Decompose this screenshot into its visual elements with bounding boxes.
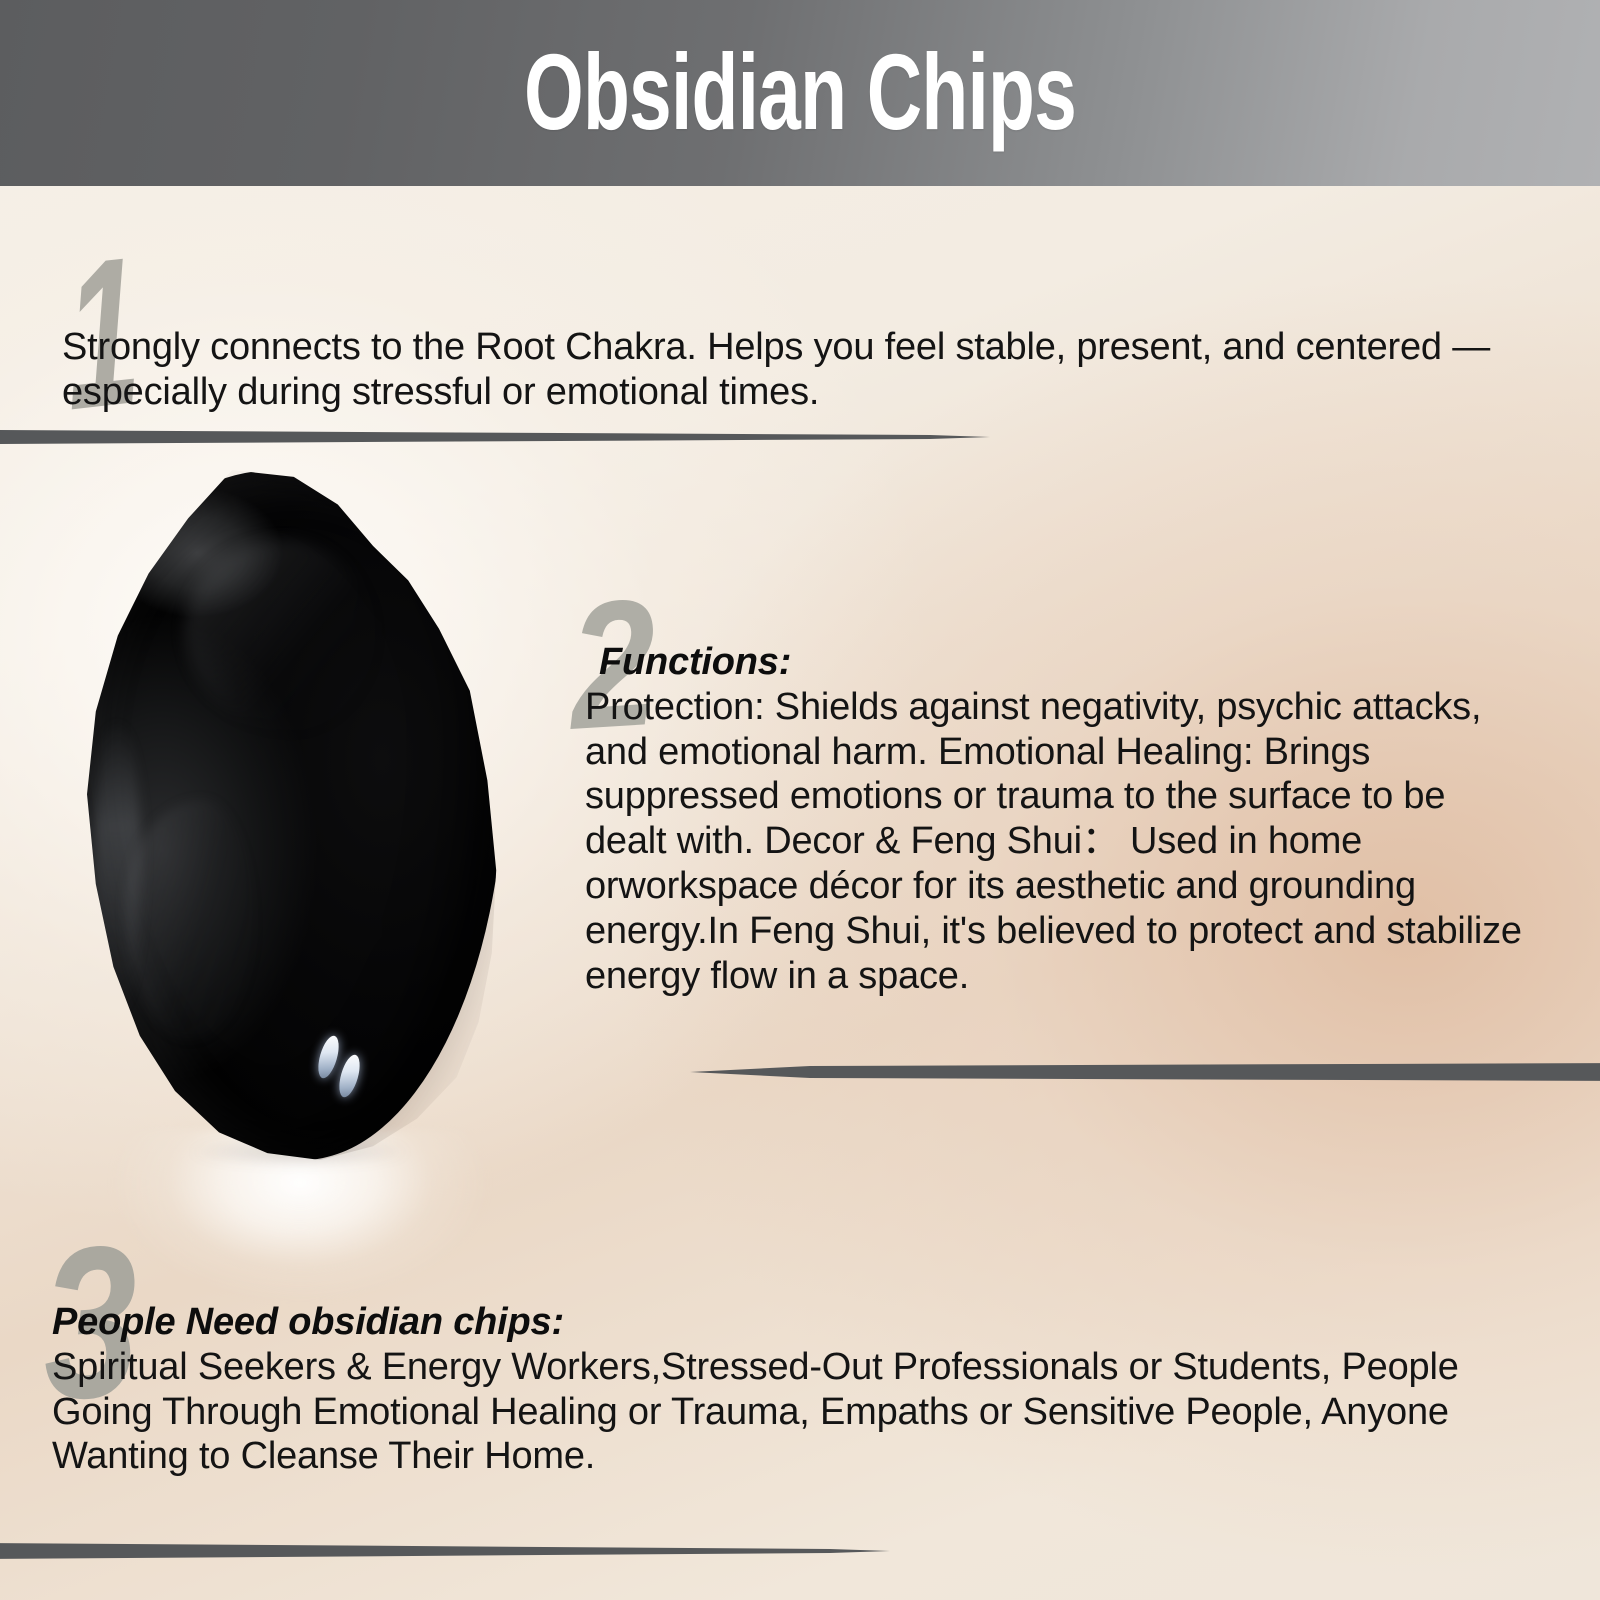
infographic-poster: Obsidian Chips 1 2 3 Strongly conn (0, 0, 1600, 1600)
divider-rule-3 (0, 1538, 890, 1564)
divider-rule-1 (0, 424, 990, 450)
section-3-heading: People Need obsidian chips: (52, 1300, 1552, 1345)
stone-facet-upper (185, 540, 375, 730)
section-2-body: Protection: Shields against negativity, … (585, 685, 1535, 999)
section-1-body: Strongly connects to the Root Chakra. He… (62, 325, 1492, 415)
section-3-body: Spiritual Seekers & Energy Workers,Stres… (52, 1345, 1552, 1479)
section-3: People Need obsidian chips: Spiritual Se… (52, 1300, 1552, 1479)
section-2: Functions: Protection: Shields against n… (585, 640, 1535, 999)
section-1: Strongly connects to the Root Chakra. He… (62, 325, 1492, 415)
divider-rule-2 (690, 1060, 1600, 1086)
obsidian-stone-image (55, 470, 525, 1190)
stone-facet-lower (125, 800, 255, 1040)
section-2-heading: Functions: (599, 640, 1535, 685)
header-banner: Obsidian Chips (0, 0, 1600, 186)
stone-body (65, 470, 505, 1160)
stone-edge-sheen (93, 720, 141, 1020)
page-title: Obsidian Chips (524, 39, 1076, 147)
